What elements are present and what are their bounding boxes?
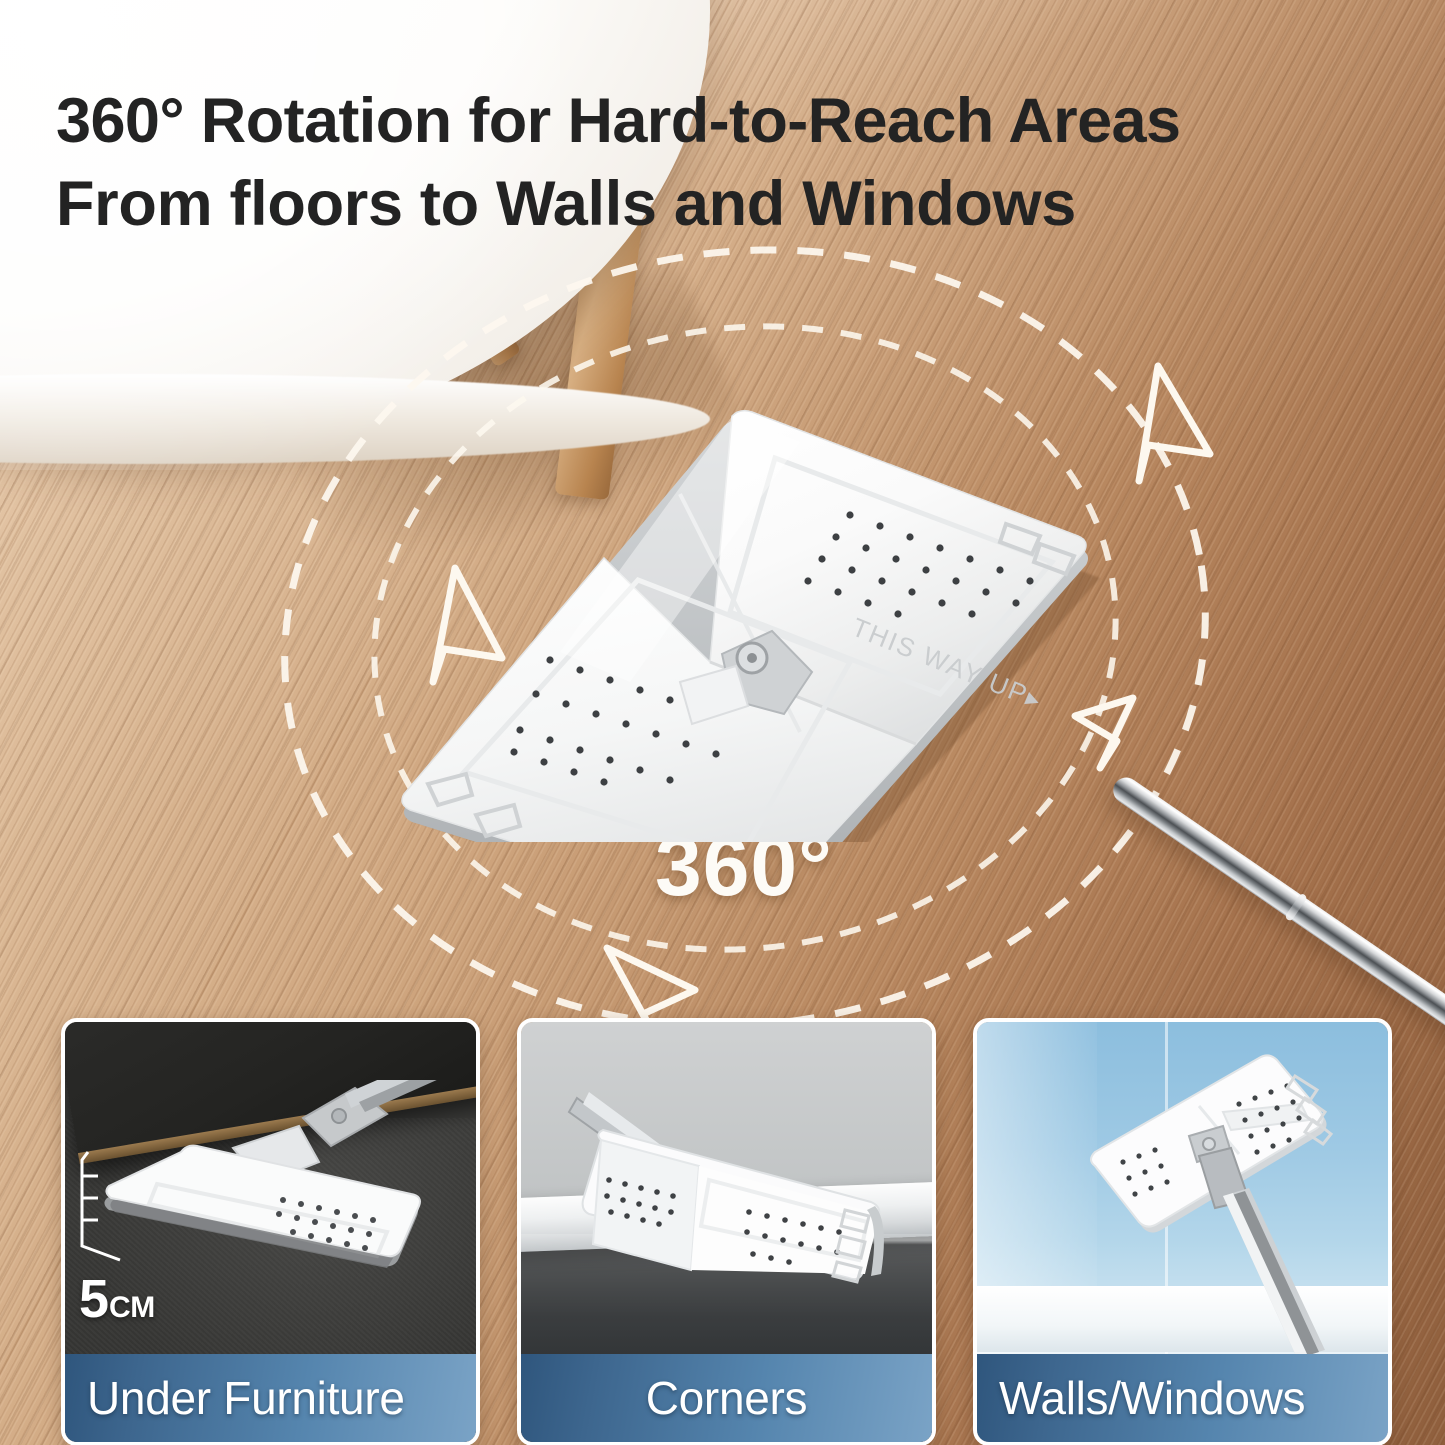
mop-at-corner — [549, 1084, 919, 1334]
infographic-canvas: 360° Rotation for Hard-to-Reach Areas Fr… — [0, 0, 1445, 1445]
measurement-value: 5 — [79, 1269, 109, 1329]
mop-hero-product: THIS WAY UP▸ — [380, 262, 1120, 842]
panel-walls-windows[interactable]: Walls/Windows — [973, 1018, 1392, 1445]
page-title: 360° Rotation for Hard-to-Reach Areas Fr… — [56, 80, 1406, 246]
panel-caption-walls-windows: Walls/Windows — [977, 1354, 1388, 1442]
mop-head-plate: THIS WAY UP▸ — [380, 262, 1120, 842]
measurement-ruler — [80, 1150, 126, 1262]
use-case-panel-row: 5CM Under Furniture — [0, 1018, 1445, 1445]
headline-line-1: 360° Rotation for Hard-to-Reach Areas — [56, 80, 1406, 163]
panel-caption-corners: Corners — [521, 1354, 932, 1442]
headline-line-2: From floors to Walls and Windows — [56, 163, 1406, 246]
caption-text: Walls/Windows — [999, 1371, 1305, 1425]
panel-under-furniture[interactable]: 5CM Under Furniture — [61, 1018, 480, 1445]
mop-on-window — [1073, 1044, 1373, 1354]
measurement-label: 5CM — [79, 1272, 155, 1326]
panel-corners[interactable]: Corners — [517, 1018, 936, 1445]
rotation-arrow-top-right — [1139, 366, 1210, 481]
caption-text: Corners — [646, 1371, 808, 1425]
panel-caption-under-furniture: Under Furniture — [65, 1354, 476, 1442]
measurement-unit: CM — [109, 1291, 155, 1324]
caption-text: Under Furniture — [87, 1371, 405, 1425]
